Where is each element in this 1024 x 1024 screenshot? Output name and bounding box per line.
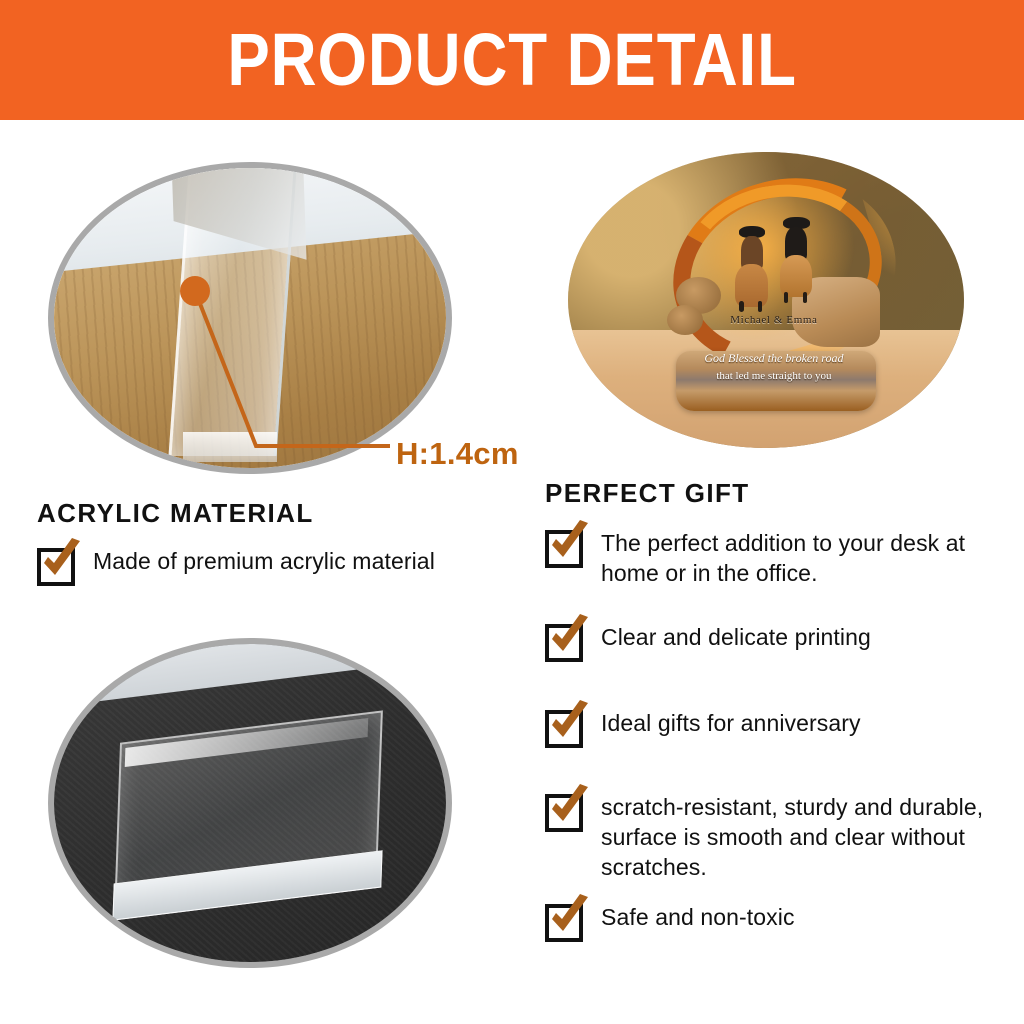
horse-leg <box>803 292 807 303</box>
dimension-label: H:1.4cm <box>396 436 519 472</box>
acrylic-foot <box>183 432 277 462</box>
cowboy-rider-left <box>734 226 769 304</box>
checkmark-icon <box>544 893 594 943</box>
personalized-names: Michael & Emma <box>663 314 885 326</box>
checkbox-checked-icon <box>545 530 583 568</box>
wood-scene <box>54 168 446 468</box>
checkbox-checked-icon <box>545 710 583 748</box>
list-item: Safe and non-toxic <box>545 902 995 942</box>
list-item: Made of premium acrylic material <box>37 546 517 586</box>
slate-top-strip <box>48 638 452 708</box>
plaque-background: Michael & Emma God Blessed the broken ro… <box>568 152 964 448</box>
list-item: The perfect addition to your desk at hom… <box>545 528 995 588</box>
list-item: Clear and delicate printing <box>545 622 995 662</box>
checkmark-icon <box>544 613 594 663</box>
cowboy-couple-acrylic-plaque-photo: Michael & Emma God Blessed the broken ro… <box>568 152 964 448</box>
list-item-label: Clear and delicate printing <box>601 622 871 652</box>
horse-leg <box>784 292 788 303</box>
verse-line-2: that led me straight to you <box>663 370 885 382</box>
checkmark-icon <box>544 783 594 833</box>
acrylic-edge-on-wood-photo <box>48 162 452 474</box>
list-item-label: The perfect addition to your desk at hom… <box>601 528 995 588</box>
checkbox-checked-icon <box>545 624 583 662</box>
horse-body <box>780 255 813 297</box>
plaque-sculpture: Michael & Emma God Blessed the broken ro… <box>663 176 885 407</box>
product-detail-infographic: PRODUCT DETAIL H:1.4cm <box>0 0 1024 1024</box>
verse-line-1: God Blessed the broken road <box>663 351 885 366</box>
list-item-label: Safe and non-toxic <box>601 902 795 932</box>
section-heading-perfect-gift: PERFECT GIFT <box>545 478 750 509</box>
checkmark-icon <box>544 519 594 569</box>
checkbox-checked-icon <box>545 904 583 942</box>
horse-leg <box>758 301 762 312</box>
list-item-label: Made of premium acrylic material <box>93 546 435 576</box>
dimension-point-marker <box>180 276 210 306</box>
horse-body <box>735 264 768 306</box>
list-item: Ideal gifts for anniversary <box>545 708 995 748</box>
list-item-label: scratch-resistant, sturdy and durable, s… <box>601 792 1005 882</box>
checkbox-checked-icon <box>37 548 75 586</box>
horse-leg <box>739 301 743 312</box>
header-banner: PRODUCT DETAIL <box>0 0 1024 120</box>
acrylic-block-on-slate-photo <box>48 638 452 968</box>
page-title: PRODUCT DETAIL <box>227 23 796 97</box>
list-item: scratch-resistant, sturdy and durable, s… <box>545 792 1005 882</box>
cowboy-rider-right <box>778 217 813 295</box>
list-item-label: Ideal gifts for anniversary <box>601 708 861 738</box>
slate-surface <box>54 644 446 962</box>
section-heading-acrylic-material: ACRYLIC MATERIAL <box>37 498 314 529</box>
checkmark-icon <box>544 699 594 749</box>
checkmark-icon <box>36 537 86 587</box>
checkbox-checked-icon <box>545 794 583 832</box>
